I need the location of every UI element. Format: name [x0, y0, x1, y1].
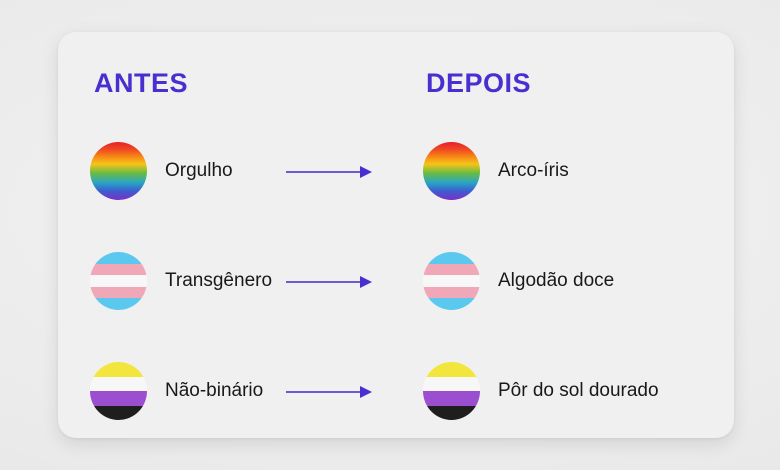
pride-rainbow-flag-icon — [423, 142, 480, 200]
column-headings: ANTES DEPOIS — [58, 68, 734, 108]
transgender-flag-icon — [423, 252, 480, 310]
nonbinary-flag-icon — [423, 362, 480, 420]
flag-band — [423, 264, 480, 276]
flag-band — [423, 298, 480, 310]
arrow-right-icon — [286, 166, 376, 178]
flag-band — [90, 391, 147, 406]
arrow-line — [286, 281, 362, 283]
flag-band — [423, 362, 480, 377]
pride-rainbow-flag-icon — [90, 142, 147, 200]
flag-band — [423, 287, 480, 299]
arrow-line — [286, 391, 362, 393]
after-label-transgender: Algodão doce — [498, 270, 614, 292]
arrow-line — [286, 171, 362, 173]
flag-band — [90, 287, 147, 299]
nonbinary-flag-icon — [90, 362, 147, 420]
table-row: Orgulho Arco-íris — [58, 116, 734, 226]
transgender-flag-icon — [90, 252, 147, 310]
table-row: Transgênero Algodão doce — [58, 226, 734, 336]
flag-band — [90, 252, 147, 264]
flag-band — [90, 377, 147, 392]
arrow-head — [360, 166, 372, 178]
before-label-nonbinary: Não-binário — [165, 380, 263, 402]
arrow-right-icon — [286, 276, 376, 288]
flag-band — [90, 298, 147, 310]
before-cell-nonbinary: Não-binário — [90, 336, 263, 446]
after-label-nonbinary: Pôr do sol dourado — [498, 380, 659, 402]
flag-band — [90, 362, 147, 377]
comparison-rows: Orgulho Arco-íris Transgênero — [58, 116, 734, 446]
flag-band — [90, 275, 147, 287]
flag-band — [90, 406, 147, 421]
before-label-pride: Orgulho — [165, 160, 233, 182]
flag-band — [423, 377, 480, 392]
flag-band — [423, 252, 480, 264]
before-cell-pride: Orgulho — [90, 116, 233, 226]
after-cell-pride: Arco-íris — [423, 116, 569, 226]
column-heading-after: DEPOIS — [426, 68, 531, 99]
flag-band — [423, 275, 480, 287]
before-label-transgender: Transgênero — [165, 270, 272, 292]
flag-band — [90, 264, 147, 276]
after-cell-nonbinary: Pôr do sol dourado — [423, 336, 659, 446]
table-row: Não-binário Pôr do sol dourado — [58, 336, 734, 446]
before-cell-transgender: Transgênero — [90, 226, 272, 336]
after-cell-transgender: Algodão doce — [423, 226, 614, 336]
column-heading-before: ANTES — [94, 68, 188, 99]
arrow-head — [360, 276, 372, 288]
arrow-head — [360, 386, 372, 398]
after-label-pride: Arco-íris — [498, 160, 569, 182]
arrow-right-icon — [286, 386, 376, 398]
comparison-card: ANTES DEPOIS Orgulho Arco-íris Transgêne… — [58, 32, 734, 438]
flag-band — [423, 406, 480, 421]
flag-band — [423, 391, 480, 406]
